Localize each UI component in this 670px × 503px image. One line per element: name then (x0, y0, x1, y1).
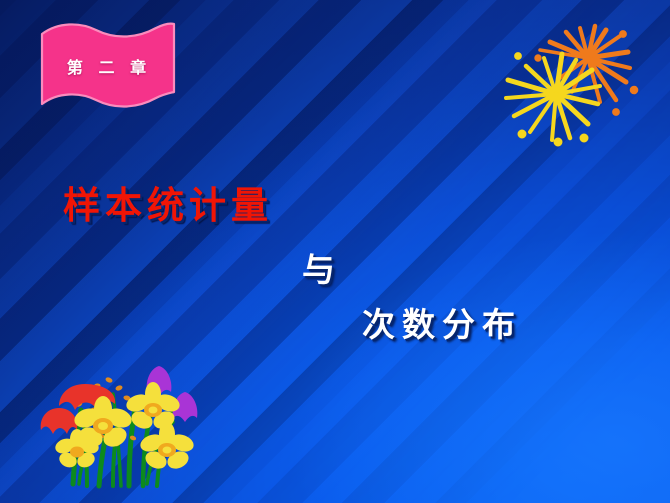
slide-main-title: 样本统计量 (63, 175, 273, 229)
slide-title-conjunction: 与 (302, 243, 335, 291)
fireworks-decoration (500, 20, 660, 150)
slide-subtitle: 次数分布 (362, 298, 522, 346)
fireworks-icon (500, 20, 660, 150)
chapter-banner-label: 第 二 章 (36, 20, 178, 112)
presentation-slide: 第 二 章 (0, 0, 670, 503)
flower-bouquet-icon (25, 352, 220, 492)
flower-decoration (25, 352, 220, 492)
chapter-banner: 第 二 章 (36, 20, 178, 112)
